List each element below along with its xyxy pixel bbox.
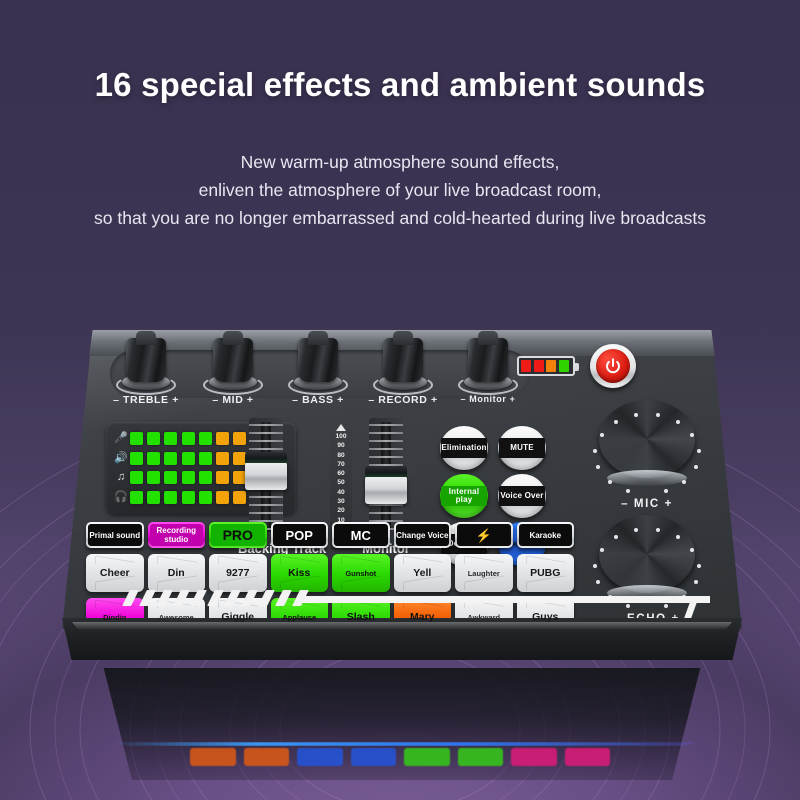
pad-preset-label: Recording studio: [150, 524, 204, 546]
pad-face[interactable]: Laughter: [455, 554, 513, 592]
scale-tick: 30: [337, 497, 344, 506]
music-note-icon: ♫: [112, 472, 130, 483]
pad-label: Kiss: [288, 567, 310, 579]
knob-mic-body[interactable]: [593, 400, 701, 494]
knob-treble-body[interactable]: [120, 338, 172, 392]
headphone-icon: 🎧: [112, 492, 130, 503]
battery-segment: [559, 360, 569, 372]
knob-detent-dot: [634, 528, 638, 532]
pad-preset-mc[interactable]: MC: [332, 522, 390, 548]
battery-segment: [521, 360, 531, 372]
knob-mic-dots: [593, 410, 701, 494]
pad-label: Guys: [532, 611, 558, 623]
vent-stripe: [139, 590, 156, 606]
knob-detent-dot: [682, 480, 686, 484]
vent-stripe: [241, 590, 258, 606]
knob-mid-body[interactable]: [207, 338, 259, 392]
pad-face[interactable]: 9277: [209, 554, 267, 592]
vent-stripe: [190, 590, 207, 606]
vent-stripe: [275, 590, 292, 606]
pad-label: Cheer: [100, 567, 130, 579]
led-cell: [147, 471, 160, 484]
page-subtitle: New warm-up atmosphere sound effects, en…: [0, 148, 800, 232]
reflection-pad: [458, 748, 504, 766]
knob-bass-label: – BASS +: [280, 394, 356, 406]
knob-record-body[interactable]: [377, 338, 429, 392]
led-cell: [182, 432, 195, 445]
pad-row-effects-1: CheerDin9277KissGunshotYellLaughterPUBG: [86, 548, 586, 592]
knob-record[interactable]: – RECORD +: [365, 338, 441, 406]
knob-treble-plus: +: [172, 394, 179, 406]
fader-rung: [249, 504, 283, 506]
knob-monitor-label: – Monitor +: [450, 394, 526, 404]
knob-detent-dot: [614, 420, 618, 424]
scale-tick: 90: [337, 441, 344, 450]
pad-label: Awkward: [467, 613, 500, 622]
fader-rung: [249, 496, 283, 498]
pad-din[interactable]: Din: [148, 548, 206, 592]
knob-detent-dot: [694, 580, 698, 584]
fader-monitor-handle[interactable]: [365, 476, 407, 504]
pad-preset-label: MC: [334, 524, 388, 546]
button-voice-over[interactable]: Voice Over: [498, 474, 546, 518]
battery-segment: [546, 360, 556, 372]
subtitle-line-1: New warm-up atmosphere sound effects,: [0, 148, 800, 176]
pad-9277[interactable]: 9277: [209, 548, 267, 592]
pad-face[interactable]: Din: [148, 554, 206, 592]
pad-preset-pop[interactable]: POP: [271, 522, 329, 548]
pad-preset-[interactable]: ⚡: [455, 522, 513, 548]
pad-preset-face[interactable]: Change Voice: [394, 522, 452, 548]
fader-rung: [369, 504, 403, 506]
pad-preset-face[interactable]: Recording studio: [148, 522, 206, 548]
pad-yell[interactable]: Yell: [394, 548, 452, 592]
button-internal-play-label: Internal play: [441, 488, 487, 505]
knob-record-label: – RECORD +: [365, 394, 441, 406]
power-button[interactable]: [590, 344, 636, 388]
page-title: 16 special effects and ambient sounds: [0, 66, 800, 104]
reflection-pad: [244, 748, 290, 766]
pad-cheer[interactable]: Cheer: [86, 548, 144, 592]
pad-preset-label: POP: [273, 524, 327, 546]
pad-label: Mary: [410, 611, 435, 623]
pad-preset-recording-studio[interactable]: Recording studio: [148, 522, 206, 548]
pad-preset-label: Change Voice: [396, 524, 450, 546]
knob-treble[interactable]: – TREBLE +: [108, 338, 184, 406]
pad-face[interactable]: Gunshot: [332, 554, 390, 592]
knob-detent-dot: [697, 449, 701, 453]
pad-preset-change-voice[interactable]: Change Voice: [394, 522, 452, 548]
led-cell: [164, 491, 177, 504]
led-cell: [199, 471, 212, 484]
fader-rung: [249, 432, 283, 434]
knob-detent-dot: [600, 433, 604, 437]
pad-preset-face[interactable]: Karaoke: [517, 522, 575, 548]
pad-preset-label: Primal sound: [88, 524, 142, 546]
pad-label: PUBG: [530, 567, 560, 579]
pad-preset-face[interactable]: POP: [271, 522, 329, 548]
led-cell: [182, 471, 195, 484]
fader-rung: [249, 448, 283, 450]
led-cell: [164, 432, 177, 445]
pad-preset-pro[interactable]: PRO: [209, 522, 267, 548]
pad-face[interactable]: PUBG: [517, 554, 575, 592]
fader-rung: [249, 440, 283, 442]
speaker-icon: 🔊: [112, 453, 130, 464]
scale-tick: 40: [337, 488, 344, 497]
device-front-gloss: [72, 622, 732, 630]
knob-detent-dot: [690, 548, 694, 552]
reflection-light-streak: [105, 742, 705, 746]
knob-detent-dot: [608, 480, 612, 484]
knob-bass[interactable]: – BASS +: [280, 338, 356, 406]
knob-detent-dot: [593, 564, 597, 568]
led-cell: [182, 491, 195, 504]
reflection-pad: [565, 748, 611, 766]
scale-tick: 50: [337, 478, 344, 487]
reflection-pad: [351, 748, 397, 766]
vent-stripe: [173, 590, 190, 606]
led-cell: [130, 491, 143, 504]
knob-monitor[interactable]: – Monitor +: [450, 338, 526, 404]
knob-detent-dot: [614, 535, 618, 539]
knob-detent-dot: [690, 433, 694, 437]
reflection-pad: [297, 748, 343, 766]
pad-preset-face[interactable]: ⚡: [455, 522, 513, 548]
button-mute-label: MUTE: [510, 444, 533, 452]
knob-detent-dot: [626, 489, 630, 493]
fader-rung: [249, 512, 283, 514]
fader-rung: [369, 440, 403, 442]
reflection-pad: [190, 748, 236, 766]
led-cell: [199, 491, 212, 504]
fader-rung: [369, 456, 403, 458]
scale-tick: 20: [337, 506, 344, 515]
fader-rung: [369, 448, 403, 450]
power-icon: [596, 349, 630, 383]
knob-detent-dot: [600, 548, 604, 552]
pad-label: Laughter: [468, 569, 500, 578]
knob-detent-dot: [697, 564, 701, 568]
reflection-pad-colors: [190, 748, 610, 770]
knob-detent-dot: [634, 413, 638, 417]
knob-detent-dot: [676, 535, 680, 539]
button-internal-play[interactable]: Internal play: [440, 474, 488, 518]
led-cell: [147, 432, 160, 445]
reflection-pad: [404, 748, 450, 766]
pad-preset-karaoke[interactable]: Karaoke: [517, 522, 575, 548]
knob-treble-minus: –: [113, 394, 119, 406]
scale-tick: 60: [337, 469, 344, 478]
knob-detent-dot: [656, 413, 660, 417]
led-cell: [216, 432, 229, 445]
audio-mixer-device: – TREBLE + – MID + – BASS + – RECORD: [62, 330, 742, 675]
subtitle-line-3: so that you are no longer embarrassed an…: [0, 204, 800, 232]
pad-label: Giggle: [221, 611, 254, 623]
pad-label: Din: [168, 567, 185, 579]
led-cell: [164, 452, 177, 465]
pad-pubg[interactable]: PUBG: [517, 548, 575, 592]
led-cell: [164, 471, 177, 484]
led-cell: [147, 491, 160, 504]
pad-face[interactable]: Yell: [394, 554, 452, 592]
lightning-bolt-icon: ⚡: [457, 524, 511, 546]
pad-laughter[interactable]: Laughter: [455, 548, 513, 592]
knob-detent-dot: [596, 580, 600, 584]
led-cell: [216, 491, 229, 504]
scale-tick: 80: [337, 451, 344, 460]
pad-preset-primal-sound[interactable]: Primal sound: [86, 522, 144, 548]
reflection-pad: [511, 748, 557, 766]
led-cell: [216, 471, 229, 484]
led-cell: [130, 452, 143, 465]
button-mute[interactable]: MUTE: [498, 426, 546, 470]
button-voice-over-label: Voice Over: [500, 492, 543, 500]
knob-detent-dot: [593, 449, 597, 453]
pad-kiss[interactable]: Kiss: [271, 548, 329, 592]
pad-row-preset: Primal soundRecording studioPROPOPMCChan…: [86, 522, 586, 548]
led-cell: [216, 452, 229, 465]
vent-stripe: [224, 590, 241, 606]
pad-label: Gunshot: [345, 569, 376, 578]
fader-backing-track-slot[interactable]: [249, 418, 283, 536]
fader-rung: [369, 424, 403, 426]
button-elimination[interactable]: Elimination: [440, 426, 488, 470]
pad-label: Slash: [347, 611, 375, 623]
battery-indicator: [517, 356, 575, 376]
vent-stripe: [207, 590, 224, 606]
mic-icon: 🎤: [112, 433, 130, 444]
vent-stripe: [258, 590, 275, 606]
led-cell: [130, 471, 143, 484]
button-elimination-label: Elimination: [441, 444, 486, 452]
knob-monitor-body[interactable]: [462, 338, 514, 392]
battery-segment: [534, 360, 544, 372]
subtitle-line-2: enliven the atmosphere of your live broa…: [0, 176, 800, 204]
pad-label: 9277: [226, 567, 249, 579]
knob-treble-label: – TREBLE +: [108, 394, 184, 406]
knob-detent-dot: [664, 489, 668, 493]
fader-monitor-slot[interactable]: [369, 418, 403, 536]
pad-preset-label: PRO: [211, 524, 265, 546]
knob-bass-body[interactable]: [292, 338, 344, 392]
fader-backing-track-handle[interactable]: [245, 462, 287, 490]
led-cell: [199, 432, 212, 445]
knob-mid[interactable]: – MID +: [195, 338, 271, 406]
vent-stripe: [156, 590, 173, 606]
pad-face[interactable]: Kiss: [271, 554, 329, 592]
pad-label: Dindin: [103, 613, 126, 622]
scale-top-arrow: [336, 424, 346, 431]
pad-label: Yell: [413, 567, 431, 579]
knob-mic[interactable]: – MIC +: [582, 400, 712, 510]
knob-detent-dot: [694, 465, 698, 469]
led-cell: [130, 432, 143, 445]
knob-mid-label: – MID +: [195, 394, 271, 406]
fader-rung: [369, 432, 403, 434]
pad-gunshot[interactable]: Gunshot: [332, 548, 390, 592]
pad-preset-label: Karaoke: [519, 524, 573, 546]
led-cell: [199, 452, 212, 465]
pad-face[interactable]: Cheer: [86, 554, 144, 592]
pad-preset-face[interactable]: Primal sound: [86, 522, 144, 548]
fader-rung: [249, 424, 283, 426]
scale-tick: 70: [337, 460, 344, 469]
pad-label: Awesome: [159, 613, 194, 622]
led-cell: [182, 452, 195, 465]
knob-detent-dot: [656, 528, 660, 532]
knob-detent-dot: [676, 420, 680, 424]
pad-label: Applause: [282, 613, 316, 622]
knob-mic-label: – MIC +: [582, 498, 712, 510]
pad-preset-face[interactable]: MC: [332, 522, 390, 548]
scale-tick: 100: [335, 432, 346, 441]
fader-rung: [369, 512, 403, 514]
vent-stripe: [122, 590, 139, 606]
knob-detent-dot: [596, 465, 600, 469]
led-cell: [147, 452, 160, 465]
pad-preset-face[interactable]: PRO: [209, 522, 267, 548]
